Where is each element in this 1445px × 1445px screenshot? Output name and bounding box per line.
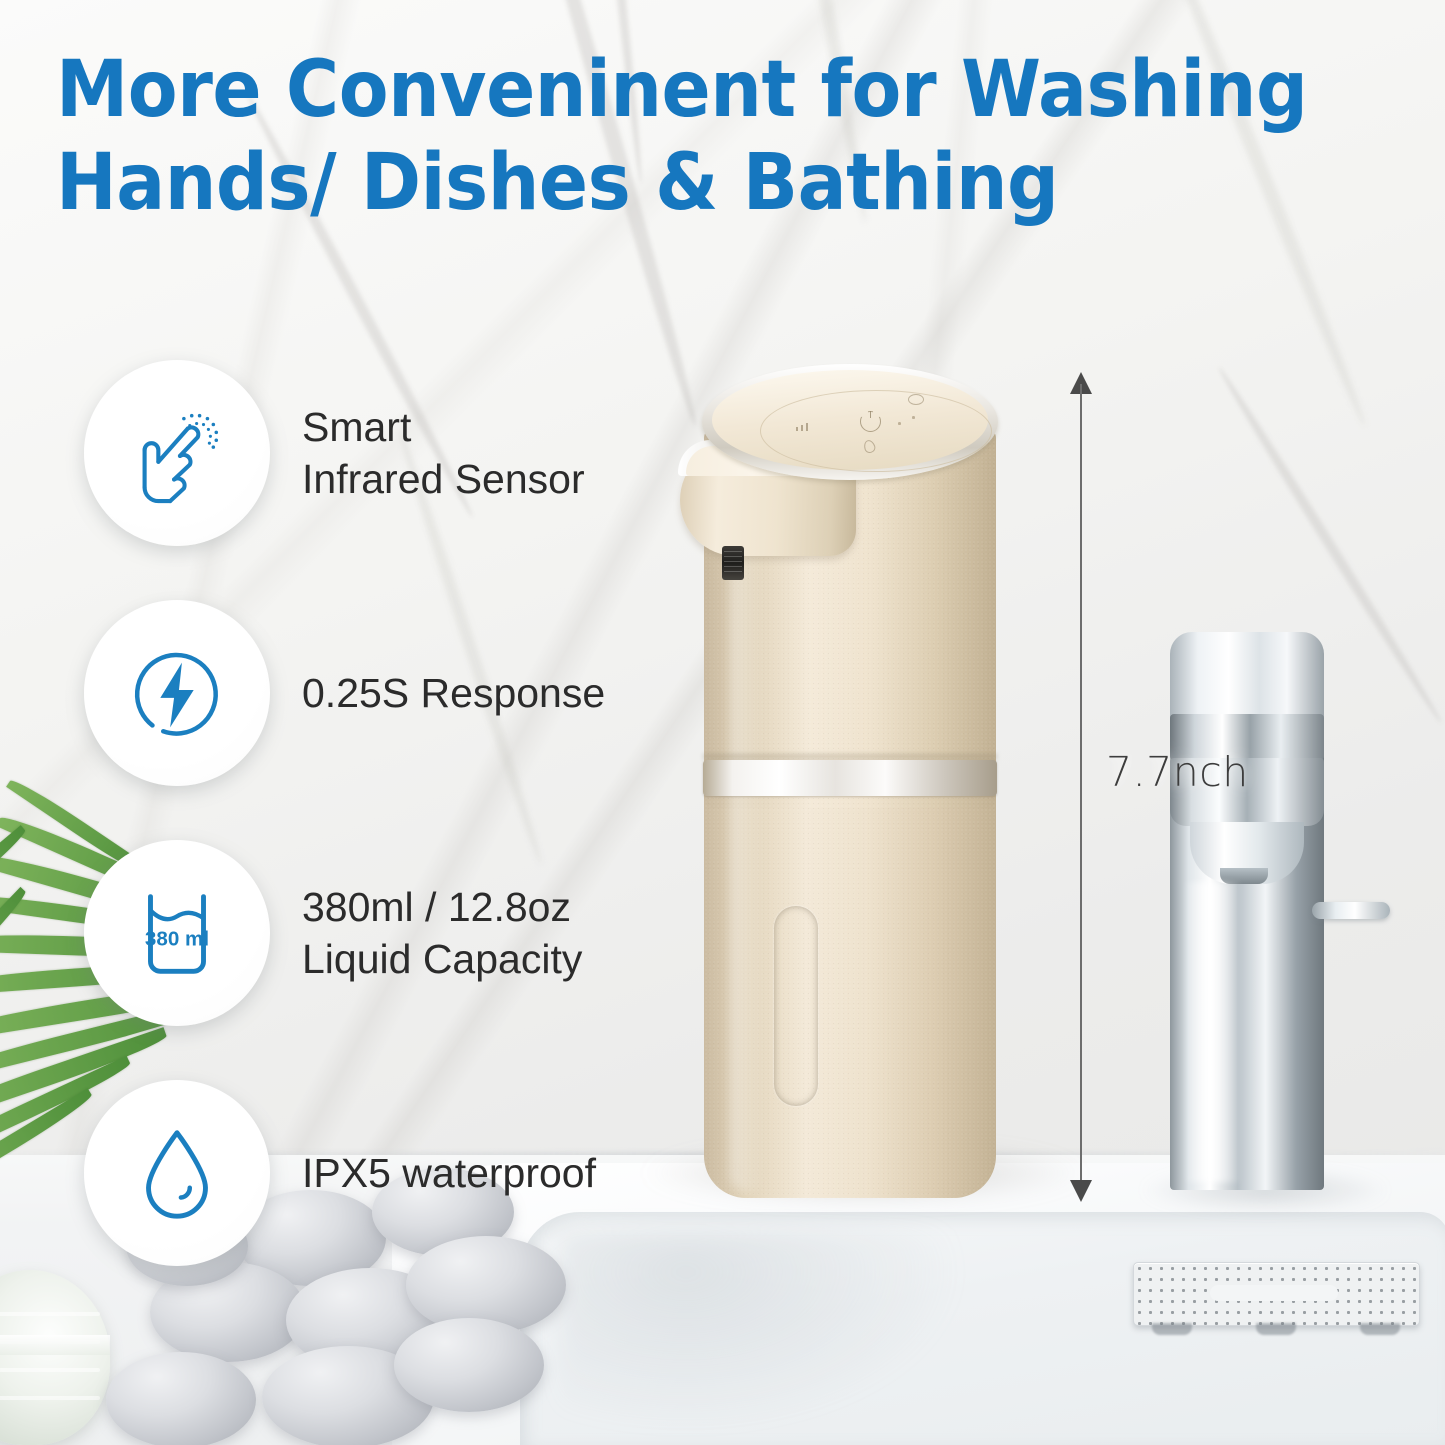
soap-dispenser	[686, 358, 1016, 1198]
overflow-grille	[1133, 1262, 1420, 1326]
feature-label: 0.25S Response	[302, 667, 605, 719]
indicator-dot-icon	[912, 416, 915, 419]
spa-stone	[394, 1318, 544, 1412]
feature-item-smart-infrared-sensor: Smart Infrared Sensor	[84, 372, 704, 534]
feature-label: Smart Infrared Sensor	[302, 401, 585, 506]
feature-icon-badge	[84, 360, 270, 546]
beaker-icon-label: 380 ml	[145, 928, 209, 951]
faucet-handle[interactable]	[1312, 902, 1390, 919]
water-drop-icon	[123, 1119, 231, 1227]
feature-icon-badge: 380 ml	[84, 840, 270, 1026]
infrared-sensor-hand-icon	[123, 399, 231, 507]
beaker-capacity-icon: 380 ml	[123, 879, 231, 987]
feature-line-1: 380ml / 12.8oz	[302, 881, 582, 933]
feature-list: Smart Infrared Sensor 0.25S Response 38	[84, 372, 704, 1332]
lightning-bolt-icon	[123, 639, 231, 747]
dimension-line	[1080, 384, 1082, 1190]
feature-item-response-time: 0.25S Response	[84, 612, 704, 774]
headline-line-1: More Conveninent for Washing	[56, 44, 1293, 137]
feature-icon-badge	[84, 1080, 270, 1266]
feature-icon-badge	[84, 600, 270, 786]
spa-stone	[106, 1352, 256, 1445]
product-feature-image: 7.7nch More Conveninent for Washing Hand…	[0, 0, 1445, 1445]
feature-line-2: Infrared Sensor	[302, 453, 585, 505]
feature-item-waterproof: IPX5 waterproof	[84, 1092, 704, 1254]
dispenser-top-panel[interactable]	[712, 370, 988, 470]
dispenser-nozzle	[722, 546, 744, 580]
level-dashes-icon	[796, 422, 814, 431]
feature-line-1: Smart	[302, 401, 585, 453]
headline-line-2: Hands/ Dishes & Bathing	[56, 137, 1293, 230]
feature-item-liquid-capacity: 380 ml 380ml / 12.8oz Liquid Capacity	[84, 852, 704, 1014]
feature-line-2: Liquid Capacity	[302, 933, 582, 985]
feature-line-1: IPX5 waterproof	[302, 1147, 596, 1199]
dispenser-chrome-band	[703, 760, 997, 796]
feature-label: 380ml / 12.8oz Liquid Capacity	[302, 881, 582, 986]
page-title: More Conveninent for Washing Hands/ Dish…	[56, 44, 1293, 230]
dimension-label: 7.7nch	[1106, 748, 1249, 796]
liquid-level-window	[774, 906, 818, 1106]
feature-label: IPX5 waterproof	[302, 1147, 596, 1199]
feature-line-1: 0.25S Response	[302, 667, 605, 719]
indicator-dot-icon	[898, 422, 901, 425]
towel-band	[0, 1335, 110, 1355]
led-indicator-icon	[908, 394, 924, 405]
arrow-down-icon	[1070, 1180, 1092, 1202]
